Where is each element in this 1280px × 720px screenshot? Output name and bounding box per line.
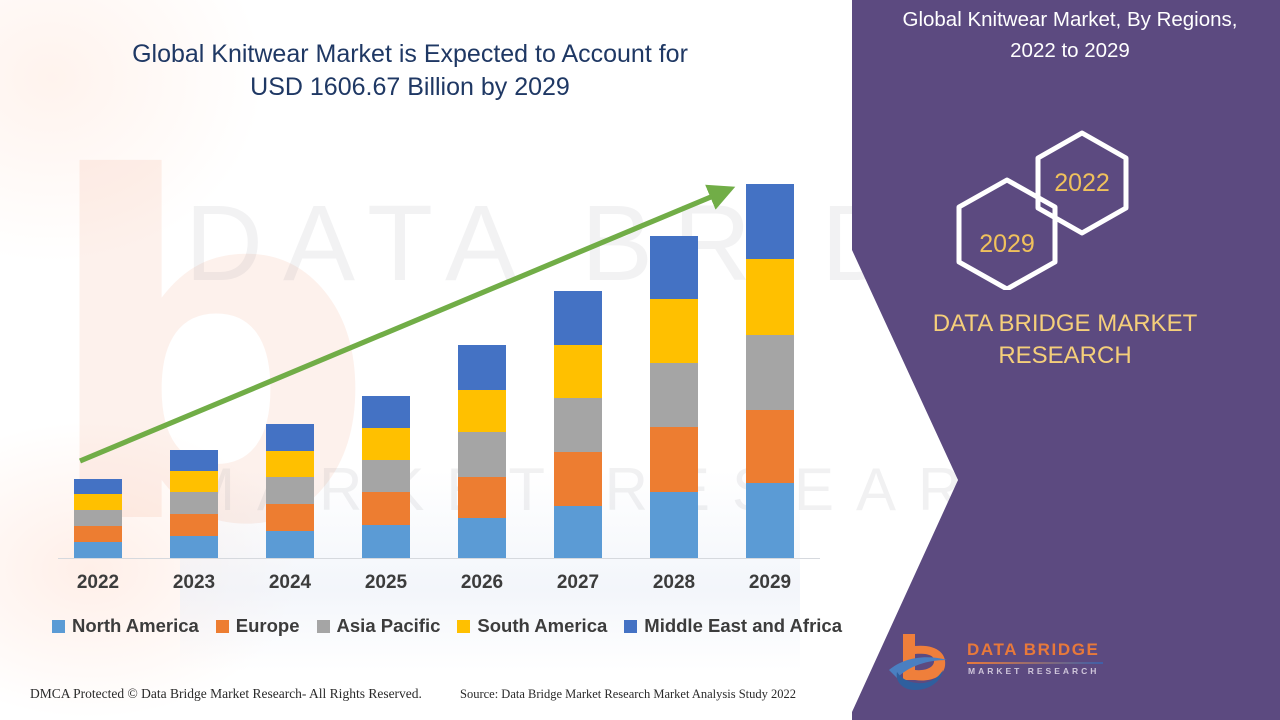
legend-item-south-america[interactable]: South America	[457, 615, 607, 637]
bar-segment-asia-pacific	[554, 398, 602, 452]
bar-segment-north-america	[650, 492, 698, 558]
purple-side-panel	[790, 0, 1280, 720]
footer-copyright: DMCA Protected © Data Bridge Market Rese…	[30, 686, 422, 702]
chart-legend: North AmericaEuropeAsia PacificSouth Ame…	[52, 615, 842, 637]
x-axis-label-2024: 2024	[255, 572, 325, 594]
bar-segment-south-america	[362, 428, 410, 460]
bar-segment-asia-pacific	[74, 510, 122, 526]
infographic-canvas: b DATA BRIDGE MARKET RESEARCH Global Kni…	[0, 0, 1280, 720]
footer-source: Source: Data Bridge Market Research Mark…	[460, 687, 796, 702]
legend-label: South America	[477, 615, 607, 637]
x-axis-label-2023: 2023	[159, 572, 229, 594]
x-axis-label-2028: 2028	[639, 572, 709, 594]
bar-segment-north-america	[458, 518, 506, 558]
bar-segment-asia-pacific	[362, 460, 410, 492]
bar-segment-south-america	[650, 299, 698, 363]
x-axis-label-2027: 2027	[543, 572, 613, 594]
bar-segment-south-america	[554, 345, 602, 398]
bar-segment-south-america	[170, 471, 218, 492]
legend-swatch-icon	[317, 620, 330, 633]
x-axis-label-2025: 2025	[351, 572, 421, 594]
legend-swatch-icon	[624, 620, 637, 633]
logo-mark-icon	[885, 630, 960, 692]
bar-segment-europe	[362, 492, 410, 525]
bar-segment-europe	[554, 452, 602, 506]
company-logo: DATA BRIDGE MARKET RESEARCH	[885, 630, 1115, 700]
legend-swatch-icon	[457, 620, 470, 633]
chart-bar-2024	[266, 424, 314, 558]
bar-segment-south-america	[746, 259, 794, 335]
bar-segment-north-america	[266, 531, 314, 558]
bar-segment-asia-pacific	[170, 492, 218, 514]
bar-segment-north-america	[74, 542, 122, 558]
chart-bar-2029	[746, 184, 794, 558]
bar-segment-middle-east-and-africa	[458, 345, 506, 390]
bar-segment-asia-pacific	[746, 335, 794, 410]
logo-text-secondary: MARKET RESEARCH	[968, 666, 1099, 676]
legend-swatch-icon	[52, 620, 65, 633]
chart-bar-2027	[554, 291, 602, 558]
legend-label: Asia Pacific	[337, 615, 441, 637]
bar-segment-middle-east-and-africa	[266, 424, 314, 451]
x-axis-label-2022: 2022	[63, 572, 133, 594]
legend-item-asia-pacific[interactable]: Asia Pacific	[317, 615, 441, 637]
bar-segment-asia-pacific	[458, 432, 506, 477]
bar-segment-asia-pacific	[650, 363, 698, 427]
chart-bar-2025	[362, 396, 410, 558]
bar-segment-middle-east-and-africa	[362, 396, 410, 428]
growth-arrow	[0, 0, 840, 600]
chart-bar-2026	[458, 345, 506, 558]
bar-segment-south-america	[458, 390, 506, 432]
legend-swatch-icon	[216, 620, 229, 633]
bar-segment-middle-east-and-africa	[74, 479, 122, 494]
bar-segment-europe	[266, 504, 314, 531]
chart-bar-2023	[170, 450, 218, 558]
footer: DMCA Protected © Data Bridge Market Rese…	[0, 686, 845, 712]
stacked-bar-chart: 20222023202420252026202720282029	[0, 0, 840, 600]
bar-segment-north-america	[746, 483, 794, 558]
bar-segment-asia-pacific	[266, 477, 314, 504]
x-axis-label-2026: 2026	[447, 572, 517, 594]
bar-segment-middle-east-and-africa	[554, 291, 602, 345]
bar-segment-europe	[170, 514, 218, 536]
bar-segment-south-america	[74, 494, 122, 510]
bar-segment-middle-east-and-africa	[650, 236, 698, 299]
bar-segment-middle-east-and-africa	[170, 450, 218, 471]
bar-segment-europe	[458, 477, 506, 518]
bar-segment-europe	[74, 526, 122, 542]
bar-segment-north-america	[170, 536, 218, 558]
bar-segment-europe	[746, 410, 794, 483]
legend-label: Europe	[236, 615, 300, 637]
chart-x-axis	[58, 558, 820, 559]
logo-divider	[967, 662, 1103, 664]
legend-item-north-america[interactable]: North America	[52, 615, 199, 637]
legend-label: North America	[72, 615, 199, 637]
bar-segment-north-america	[362, 525, 410, 558]
logo-text-primary: DATA BRIDGE	[967, 640, 1100, 660]
legend-item-europe[interactable]: Europe	[216, 615, 300, 637]
bar-segment-south-america	[266, 451, 314, 477]
chart-bar-2028	[650, 236, 698, 558]
bar-segment-middle-east-and-africa	[746, 184, 794, 259]
chart-x-axis-labels: 20222023202420252026202720282029	[0, 572, 840, 604]
chart-bar-2022	[74, 479, 122, 558]
bar-segment-north-america	[554, 506, 602, 558]
bar-segment-europe	[650, 427, 698, 492]
